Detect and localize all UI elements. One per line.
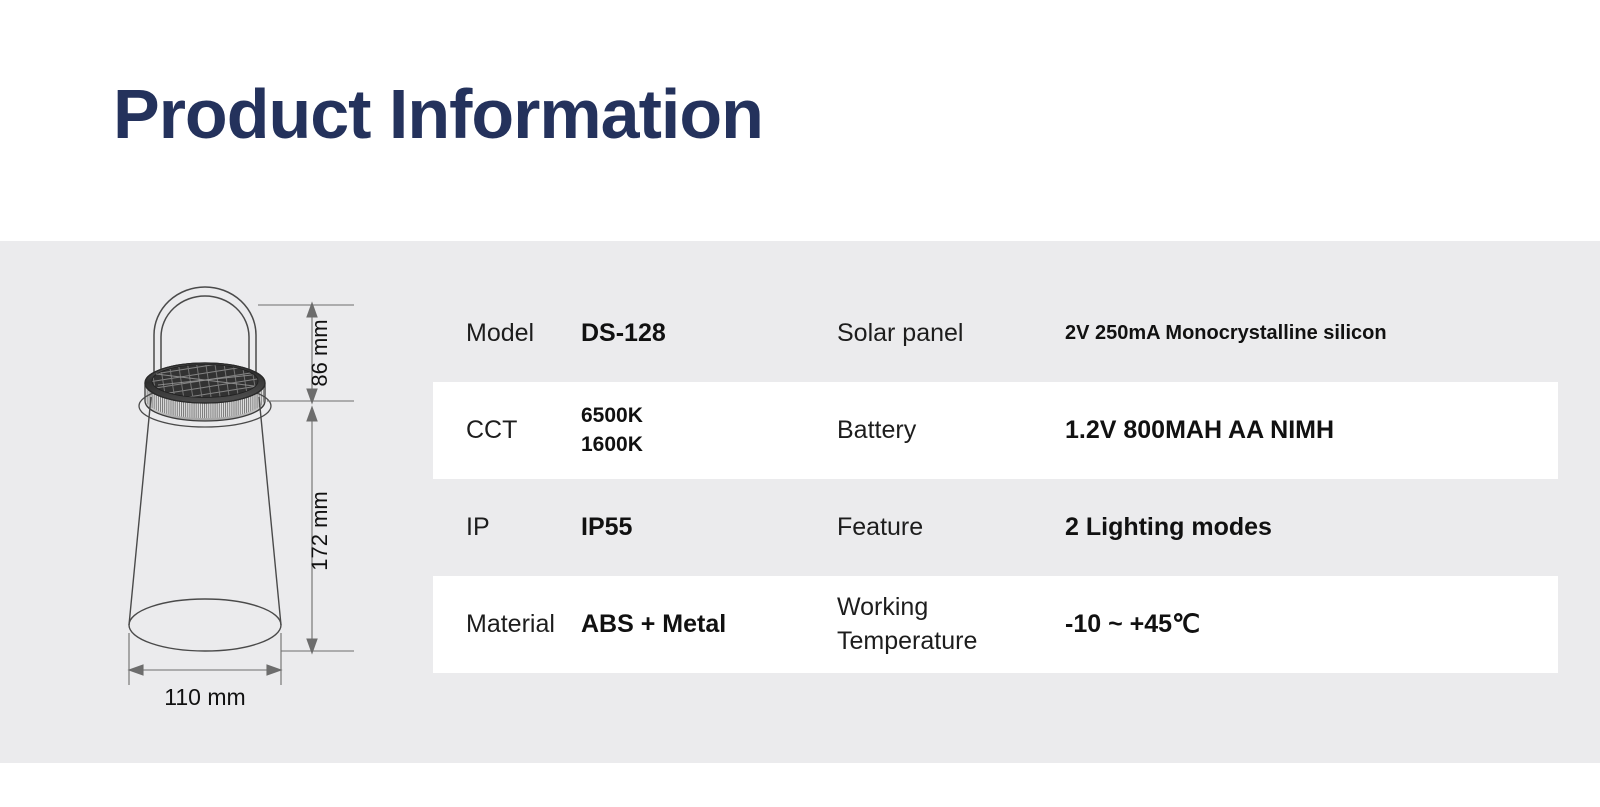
table-row: CCT 6500K 1600K Battery 1.2V 800MAH AA N… [433,382,1558,479]
spec-table: Model DS-128 Solar panel 2V 250mA Monocr… [433,285,1558,673]
spec-value-feature: 2 Lighting modes [1065,511,1505,545]
spec-label-ip: IP [433,511,581,545]
spec-label-cct: CCT [433,414,581,448]
dimension-handle-height [258,303,354,403]
product-dimension-drawing: 86 mm 172 mm 110 mm [118,273,388,713]
spec-value-material: ABS + Metal [581,608,837,642]
spec-value-solar-panel: 2V 250mA Monocrystalline silicon [1065,320,1505,347]
spec-value-cct: 6500K 1600K [581,402,837,459]
spec-label-model: Model [433,317,581,351]
dimension-label-86mm: 86 mm [307,319,332,386]
spec-value-cct-line-1: 6500K [581,402,837,430]
dimension-label-110mm: 110 mm [164,684,245,710]
product-info-panel: 86 mm 172 mm 110 mm Model [0,241,1600,763]
spec-label-material: Material [433,608,581,642]
spec-label-feature: Feature [837,511,1065,545]
spec-label-working-temperature: Working Temperature [837,591,1065,659]
table-row: Material ABS + Metal Working Temperature… [433,576,1558,673]
spec-value-battery: 1.2V 800MAH AA NIMH [1065,414,1505,448]
spec-label-battery: Battery [837,414,1065,448]
table-row: Model DS-128 Solar panel 2V 250mA Monocr… [433,285,1558,382]
spec-value-model: DS-128 [581,317,837,351]
spec-value-working-temperature: -10 ~ +45℃ [1065,608,1505,642]
spec-value-cct-line-2: 1600K [581,431,837,459]
spec-label-working-temperature-line-1: Working [837,591,1065,625]
table-row: IP IP55 Feature 2 Lighting modes [433,479,1558,576]
spec-value-ip: IP55 [581,511,837,545]
solar-panel-disc [145,363,265,403]
spec-label-solar-panel: Solar panel [837,317,1065,351]
lamp-body-shape [129,397,281,651]
page-title: Product Information [113,72,763,156]
dimension-label-172mm: 172 mm [307,491,332,570]
dimension-base-width [129,633,281,685]
spec-label-working-temperature-line-2: Temperature [837,625,1065,659]
